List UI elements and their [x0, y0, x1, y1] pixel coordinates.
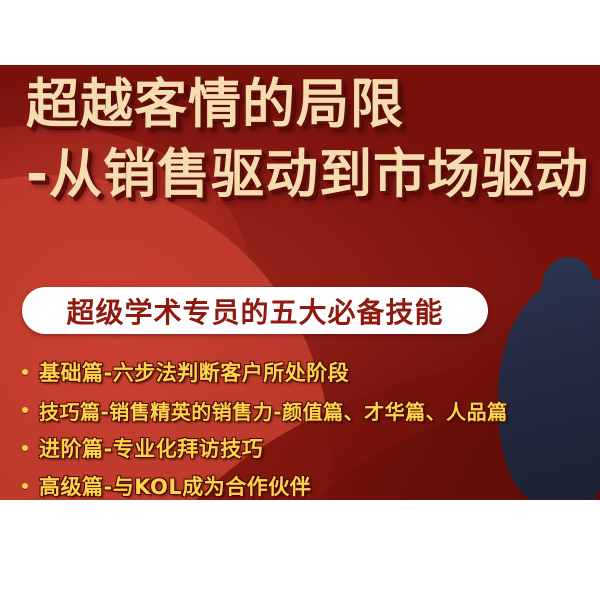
bullet-dot-icon	[22, 445, 28, 451]
list-item: 基础篇-六步法判断客户所处阶段	[0, 353, 600, 391]
list-item: 进阶篇-专业化拜访技巧	[0, 429, 600, 467]
list-item-label: 技巧篇-销售精英的销售力-颜值篇、才华篇、人品篇	[39, 396, 508, 425]
list-item: 技巧篇-销售精英的销售力-颜值篇、才华篇、人品篇	[0, 391, 600, 429]
red-banner: 超越客情的局限 -从销售驱动到市场驱动 超级学术专员的五大必备技能 基础篇-六步…	[0, 65, 600, 500]
list-item-label: 基础篇-六步法判断客户所处阶段	[39, 357, 349, 387]
subtitle-text: 超级学术专员的五大必备技能	[66, 291, 443, 331]
subtitle-pill: 超级学术专员的五大必备技能	[22, 287, 488, 334]
list-item-label: 进阶篇-专业化拜访技巧	[39, 433, 263, 463]
title-line-secondary: -从销售驱动到市场驱动	[26, 148, 589, 201]
promo-poster: 超越客情的局限 -从销售驱动到市场驱动 超级学术专员的五大必备技能 基础篇-六步…	[0, 0, 600, 600]
bullet-dot-icon	[22, 407, 28, 413]
bullet-list: 基础篇-六步法判断客户所处阶段 技巧篇-销售精英的销售力-颜值篇、才华篇、人品篇…	[0, 353, 600, 500]
bullet-dot-icon	[22, 369, 28, 375]
list-item: 高级篇-与KOL成为合作伙伴	[0, 467, 600, 500]
title-line-primary: 超越客情的局限	[26, 78, 404, 131]
list-item-label: 高级篇-与KOL成为合作伙伴	[39, 471, 311, 500]
bullet-dot-icon	[22, 483, 28, 489]
